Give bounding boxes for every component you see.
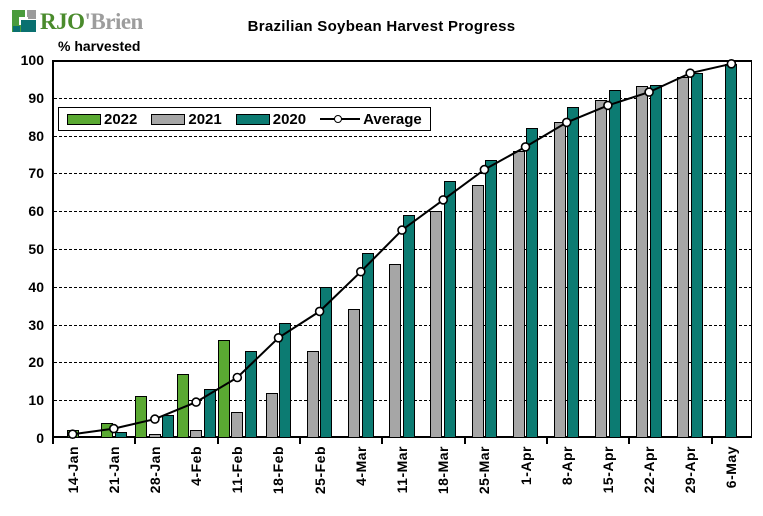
y-axis-unit-label: % harvested: [58, 38, 140, 54]
y-axis-tick-label: 10: [2, 392, 44, 408]
chart-legend: 2022 2021 2020 Average: [58, 107, 431, 131]
legend-label-2021: 2021: [188, 112, 221, 127]
y-axis-tick-label: 70: [2, 165, 44, 181]
y-axis-tick-label: 80: [2, 128, 44, 144]
x-axis-tick-labels: 14-Jan21-Jan28-Jan4-Feb11-Feb18-Feb25-Fe…: [52, 446, 752, 516]
legend-swatch-average: [320, 113, 360, 125]
y-axis-tick-label: 0: [2, 430, 44, 446]
x-axis-tick-mark: [381, 438, 383, 444]
legend-label-2020: 2020: [273, 112, 306, 127]
y-axis-tick-label: 60: [2, 203, 44, 219]
x-axis-tick-mark: [628, 438, 630, 444]
legend-swatch-2020: [236, 114, 270, 125]
legend-item-2020: 2020: [236, 112, 306, 127]
x-axis-tick-label-25-Mar: 25-Mar: [476, 446, 492, 494]
x-axis-tick-label-1-Apr: 1-Apr: [518, 446, 534, 485]
x-axis-tick-label-14-Jan: 14-Jan: [65, 446, 81, 493]
x-axis-tick-mark: [217, 438, 219, 444]
x-axis-tick-mark: [52, 438, 54, 444]
y-axis-tick-label: 100: [2, 52, 44, 68]
y-axis-tick-label: 50: [2, 241, 44, 257]
x-axis-tick-mark: [134, 438, 136, 444]
y-axis-tick-label: 20: [2, 354, 44, 370]
legend-item-2022: 2022: [67, 112, 137, 127]
x-axis-tick-label-11-Mar: 11-Mar: [394, 446, 410, 493]
y-axis-tick-label: 30: [2, 317, 44, 333]
x-axis-tick-mark: [464, 438, 466, 444]
x-axis-tick-label-25-Feb: 25-Feb: [312, 446, 328, 494]
x-axis-tick-label-29-Apr: 29-Apr: [682, 446, 698, 493]
x-axis-tick-label-8-Apr: 8-Apr: [559, 446, 575, 485]
legend-label-2022: 2022: [104, 112, 137, 127]
x-axis-tick-label-4-Mar: 4-Mar: [353, 446, 369, 486]
x-axis-tick-label-28-Jan: 28-Jan: [147, 446, 163, 493]
x-axis-tick-label-18-Feb: 18-Feb: [270, 446, 286, 494]
y-axis-tick-label: 90: [2, 90, 44, 106]
legend-item-2021: 2021: [151, 112, 221, 127]
x-axis-tick-label-4-Feb: 4-Feb: [188, 446, 204, 486]
legend-swatch-2021: [151, 114, 185, 125]
y-axis-tick-label: 40: [2, 279, 44, 295]
x-axis-tick-label-18-Mar: 18-Mar: [435, 446, 451, 494]
legend-swatch-2022: [67, 114, 101, 125]
x-axis-tick-label-6-May: 6-May: [723, 446, 739, 488]
x-axis-tick-label-22-Apr: 22-Apr: [641, 446, 657, 493]
x-axis-tick-label-15-Apr: 15-Apr: [600, 446, 616, 493]
x-axis-tick-mark: [711, 438, 713, 444]
x-axis-tick-label-11-Feb: 11-Feb: [229, 446, 245, 493]
chart-title: Brazilian Soybean Harvest Progress: [0, 18, 763, 35]
x-axis-tick-label-21-Jan: 21-Jan: [106, 446, 122, 493]
legend-item-average: Average: [320, 112, 422, 127]
x-axis-tick-mark: [546, 438, 548, 444]
x-axis-tick-mark: [299, 438, 301, 444]
legend-label-average: Average: [363, 112, 422, 127]
